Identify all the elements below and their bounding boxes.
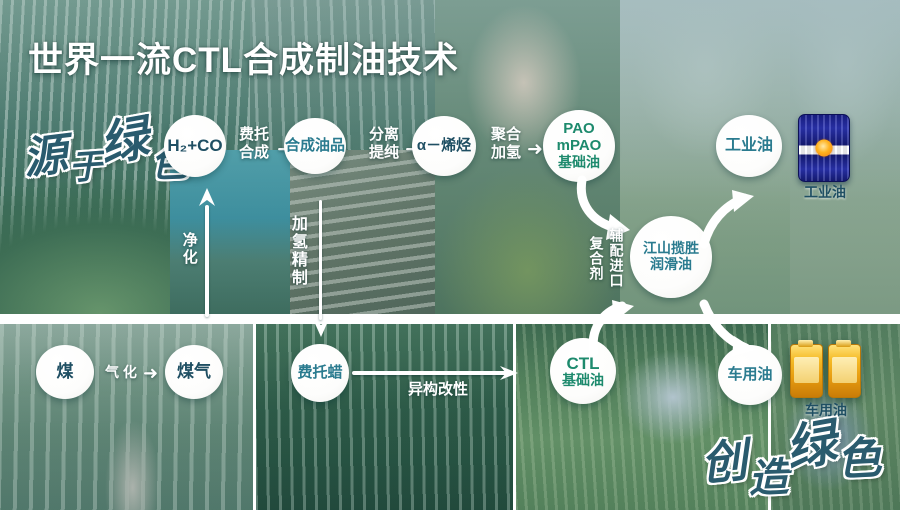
arrow-head-hydrorefining-icon (310, 315, 332, 339)
tile-seam-2 (513, 322, 516, 510)
process-label-additive: 复合剂 (588, 236, 605, 281)
process-label-gasification: 气 化 (101, 364, 141, 381)
node-synthetic-oil[interactable]: 合成油品 (284, 118, 346, 174)
oil-bottle-left (790, 344, 823, 398)
product-caption-automotive-oil: 车用油 (786, 400, 866, 420)
node-fischer-tropsch-wax[interactable]: 费托蜡 (291, 344, 349, 402)
process-label-separation: 分离 提纯 (362, 126, 406, 161)
arrow-right-icon-3: ➜ (527, 140, 543, 159)
curved-arrow-hub-to-automotive-icon (700, 300, 760, 358)
arrow-head-purification-icon (196, 188, 218, 210)
infographic-canvas: 世界一流CTL合成制油技术 源于绿色 创造绿色 费托 合成 ➜ 分离 提纯 ➜ … (0, 0, 900, 510)
node-coal-gas[interactable]: 煤气 (165, 345, 223, 399)
curved-arrow-ctl-to-hub-icon (588, 300, 650, 356)
arrow-shaft-isomerization (352, 371, 510, 375)
process-label-isomerization: 异构改性 (398, 381, 478, 399)
oil-bottles-icon (790, 340, 862, 398)
oil-drum-icon (798, 114, 850, 182)
sun-logo-icon (816, 140, 833, 157)
product-industrial-oil-drum[interactable] (798, 114, 850, 182)
arrow-right-icon-4: ➜ (143, 364, 158, 382)
node-pao-mpao-base-oil[interactable]: PAO mPAO 基础油 (543, 110, 615, 182)
bottle-label-left (794, 357, 819, 383)
calligraphy-left-char-2: 于 (67, 138, 104, 189)
curved-arrow-hub-to-industrial-icon (700, 190, 758, 248)
node-alpha-olefin[interactable]: α－烯烃 (412, 116, 476, 176)
calligraphy-right-char-4: 色 (835, 422, 882, 488)
arrow-head-isomerization-icon (500, 362, 522, 384)
process-label-ft-synthesis: 费托 合成 (232, 126, 276, 161)
node-h2-co[interactable]: H₂+CO (164, 115, 226, 177)
product-automotive-oil-bottles[interactable] (790, 340, 862, 398)
calligraphy-right-char-2: 造 (747, 445, 789, 504)
process-label-blending-import: 辅配进口 (608, 228, 625, 288)
calligraphy-left-char-3: 绿 (94, 98, 153, 175)
tile-seam-1 (253, 322, 256, 510)
product-caption-industrial-oil: 工业油 (786, 182, 864, 202)
arrow-shaft-hydrorefining (319, 200, 322, 320)
process-label-purification: 净化 (180, 232, 198, 266)
bottle-cap-left (798, 340, 813, 347)
arrow-shaft-purification (205, 205, 209, 317)
bottle-cap-right (836, 340, 851, 347)
page-title: 世界一流CTL合成制油技术 (28, 32, 459, 83)
band-divider (0, 314, 900, 324)
process-label-polymerization: 聚合 加氢 (484, 126, 528, 161)
node-coal[interactable]: 煤 (36, 345, 94, 399)
calligraphy-right-char-1: 创 (698, 433, 749, 492)
process-label-hydrorefining: 加氢精制 (287, 215, 306, 287)
curved-arrow-pao-to-hub-icon (572, 178, 642, 248)
oil-bottle-right (828, 344, 861, 398)
node-industrial-oil[interactable]: 工业油 (716, 115, 782, 177)
bottle-label-right (832, 357, 857, 383)
calligraphy-left-char-1: 源 (20, 129, 70, 185)
